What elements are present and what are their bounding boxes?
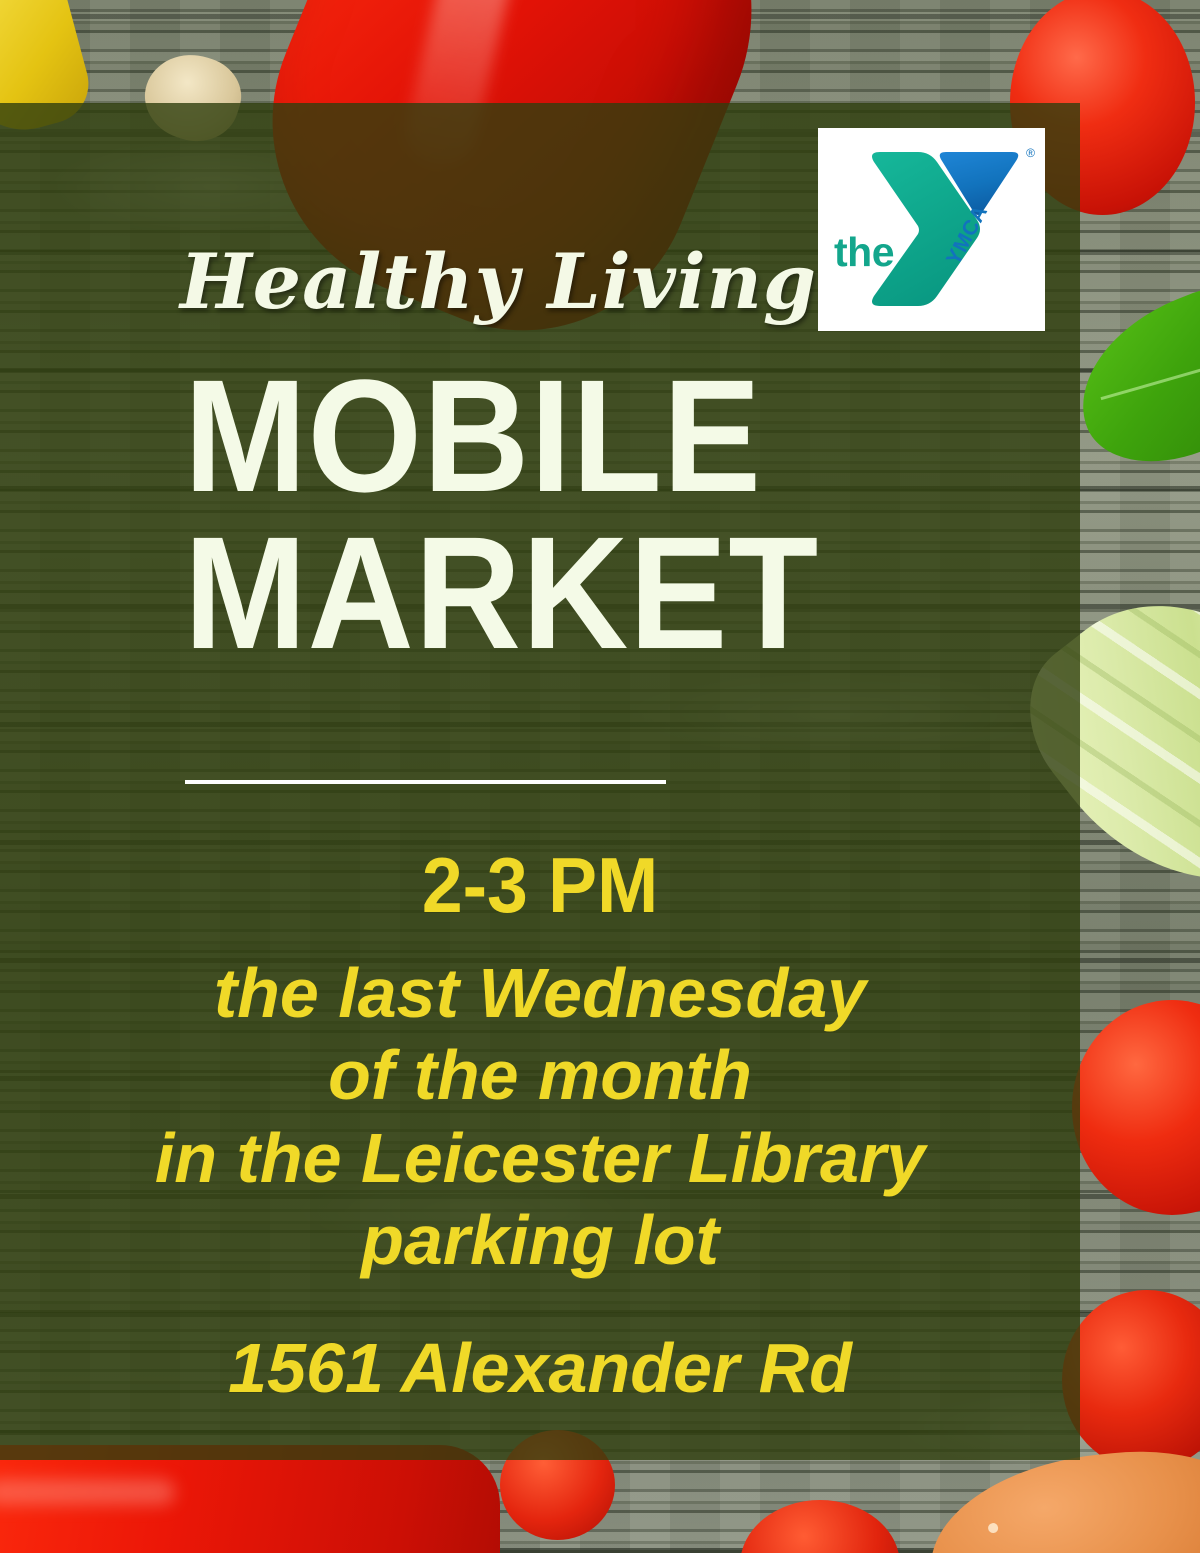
registered-trademark-icon: ®	[1026, 146, 1035, 160]
script-title: Healthy Living	[180, 244, 820, 320]
event-address: 1561 Alexander Rd	[0, 1330, 1080, 1407]
event-time: 2-3 PM	[32, 846, 1047, 926]
ymca-logo: the ® YMCA	[818, 128, 1045, 331]
flyer-poster: the ® YMCA Healthy Living MOBILE MARKET …	[0, 0, 1200, 1553]
event-details: 2-3 PM the last Wednesday of the month i…	[0, 846, 1080, 1407]
headline: MOBILE MARKET	[184, 358, 828, 672]
schedule-line-1: the last Wednesday	[0, 952, 1080, 1035]
schedule-line-2: of the month	[0, 1034, 1080, 1117]
divider-rule	[185, 780, 666, 784]
ymca-the-label: the	[834, 232, 894, 273]
ymca-logo-artwork: the ® YMCA	[818, 128, 1045, 331]
headline-line-2: MARKET	[184, 515, 828, 672]
schedule-line-4: parking lot	[0, 1199, 1080, 1282]
event-schedule: the last Wednesday of the month in the L…	[0, 952, 1080, 1282]
headline-line-1: MOBILE	[184, 358, 828, 515]
red-pepper-bottom-image	[0, 1445, 500, 1553]
schedule-line-3: in the Leicester Library	[0, 1117, 1080, 1200]
